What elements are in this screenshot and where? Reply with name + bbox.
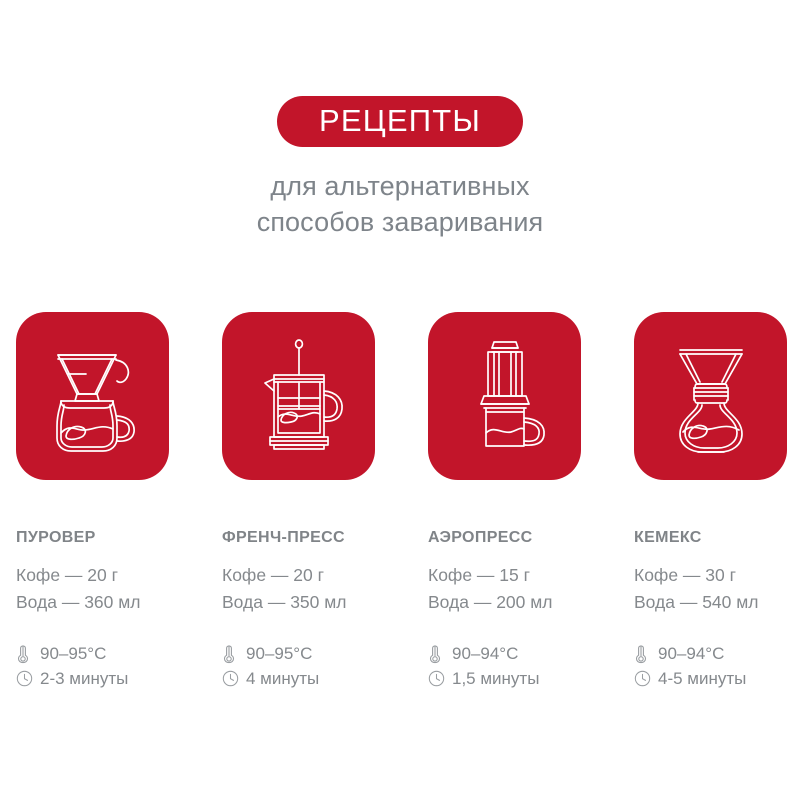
pourover-icon-tile <box>16 312 169 480</box>
meta-time: 2-3 минуты <box>40 669 128 689</box>
spec-coffee: Кофе — 30 г <box>634 562 800 589</box>
card-title: ФРЕНЧ-ПРЕСС <box>222 530 412 546</box>
thermometer-icon <box>428 643 452 665</box>
chemex-icon <box>656 334 766 459</box>
page-title-badge: РЕЦЕПТЫ <box>277 96 523 147</box>
french-press-icon-tile <box>222 312 375 480</box>
card-title: ПУРОВЕР <box>16 530 206 546</box>
recipes-infographic: РЕЦЕПТЫ для альтернативных способов зава… <box>0 0 800 800</box>
brew-method-card-french-press: ФРЕНЧ-ПРЕСС Кофе — 20 г Вода — 350 мл 90… <box>222 312 412 691</box>
chemex-icon-tile <box>634 312 787 480</box>
meta-time: 1,5 минуты <box>452 669 539 689</box>
thermometer-icon <box>16 643 40 665</box>
page-header: РЕЦЕПТЫ для альтернативных способов зава… <box>0 0 800 241</box>
meta-row-temperature: 90–95°C <box>222 641 412 666</box>
brew-methods-grid: ПУРОВЕР Кофе — 20 г Вода — 360 мл 90–95°… <box>0 312 800 691</box>
meta-row-time: 1,5 минуты <box>428 666 618 691</box>
french-press-icon <box>244 334 354 459</box>
card-specs: Кофе — 20 г Вода — 350 мл <box>222 562 412 615</box>
thermometer-icon <box>634 643 658 665</box>
spec-water: Вода — 540 мл <box>634 589 800 616</box>
thermometer-icon <box>222 643 246 665</box>
card-title: АЭРОПРЕСС <box>428 530 618 546</box>
meta-temperature: 90–95°C <box>40 644 106 664</box>
meta-row-temperature: 90–94°C <box>428 641 618 666</box>
aeropress-icon-tile <box>428 312 581 480</box>
card-specs: Кофе — 20 г Вода — 360 мл <box>16 562 206 615</box>
meta-row-time: 2-3 минуты <box>16 666 206 691</box>
meta-time: 4 минуты <box>246 669 319 689</box>
brew-method-card-chemex: КЕМЕКС Кофе — 30 г Вода — 540 мл 90–94°C <box>634 312 800 691</box>
spec-coffee: Кофе — 20 г <box>222 562 412 589</box>
page-subtitle-line-2: способов заваривания <box>0 205 800 241</box>
spec-coffee: Кофе — 15 г <box>428 562 618 589</box>
card-meta: 90–95°C 4 минуты <box>222 641 412 691</box>
clock-icon <box>16 668 40 690</box>
spec-coffee: Кофе — 20 г <box>16 562 206 589</box>
pourover-icon <box>38 334 148 459</box>
card-meta: 90–95°C 2-3 минуты <box>16 641 206 691</box>
clock-icon <box>222 668 246 690</box>
brew-method-card-pourover: ПУРОВЕР Кофе — 20 г Вода — 360 мл 90–95°… <box>16 312 206 691</box>
meta-temperature: 90–94°C <box>658 644 724 664</box>
meta-temperature: 90–94°C <box>452 644 518 664</box>
card-specs: Кофе — 30 г Вода — 540 мл <box>634 562 800 615</box>
meta-row-time: 4 минуты <box>222 666 412 691</box>
meta-row-temperature: 90–94°C <box>634 641 800 666</box>
meta-time: 4-5 минуты <box>658 669 746 689</box>
page-subtitle: для альтернативных способов заваривания <box>0 169 800 241</box>
card-meta: 90–94°C 4-5 минуты <box>634 641 800 691</box>
card-specs: Кофе — 15 г Вода — 200 мл <box>428 562 618 615</box>
spec-water: Вода — 350 мл <box>222 589 412 616</box>
meta-temperature: 90–95°C <box>246 644 312 664</box>
meta-row-temperature: 90–95°C <box>16 641 206 666</box>
meta-row-time: 4-5 минуты <box>634 666 800 691</box>
card-meta: 90–94°C 1,5 минуты <box>428 641 618 691</box>
clock-icon <box>634 668 658 690</box>
page-subtitle-line-1: для альтернативных <box>0 169 800 205</box>
spec-water: Вода — 360 мл <box>16 589 206 616</box>
aeropress-icon <box>450 334 560 459</box>
card-title: КЕМЕКС <box>634 530 800 546</box>
brew-method-card-aeropress: АЭРОПРЕСС Кофе — 15 г Вода — 200 мл 90–9… <box>428 312 618 691</box>
clock-icon <box>428 668 452 690</box>
spec-water: Вода — 200 мл <box>428 589 618 616</box>
